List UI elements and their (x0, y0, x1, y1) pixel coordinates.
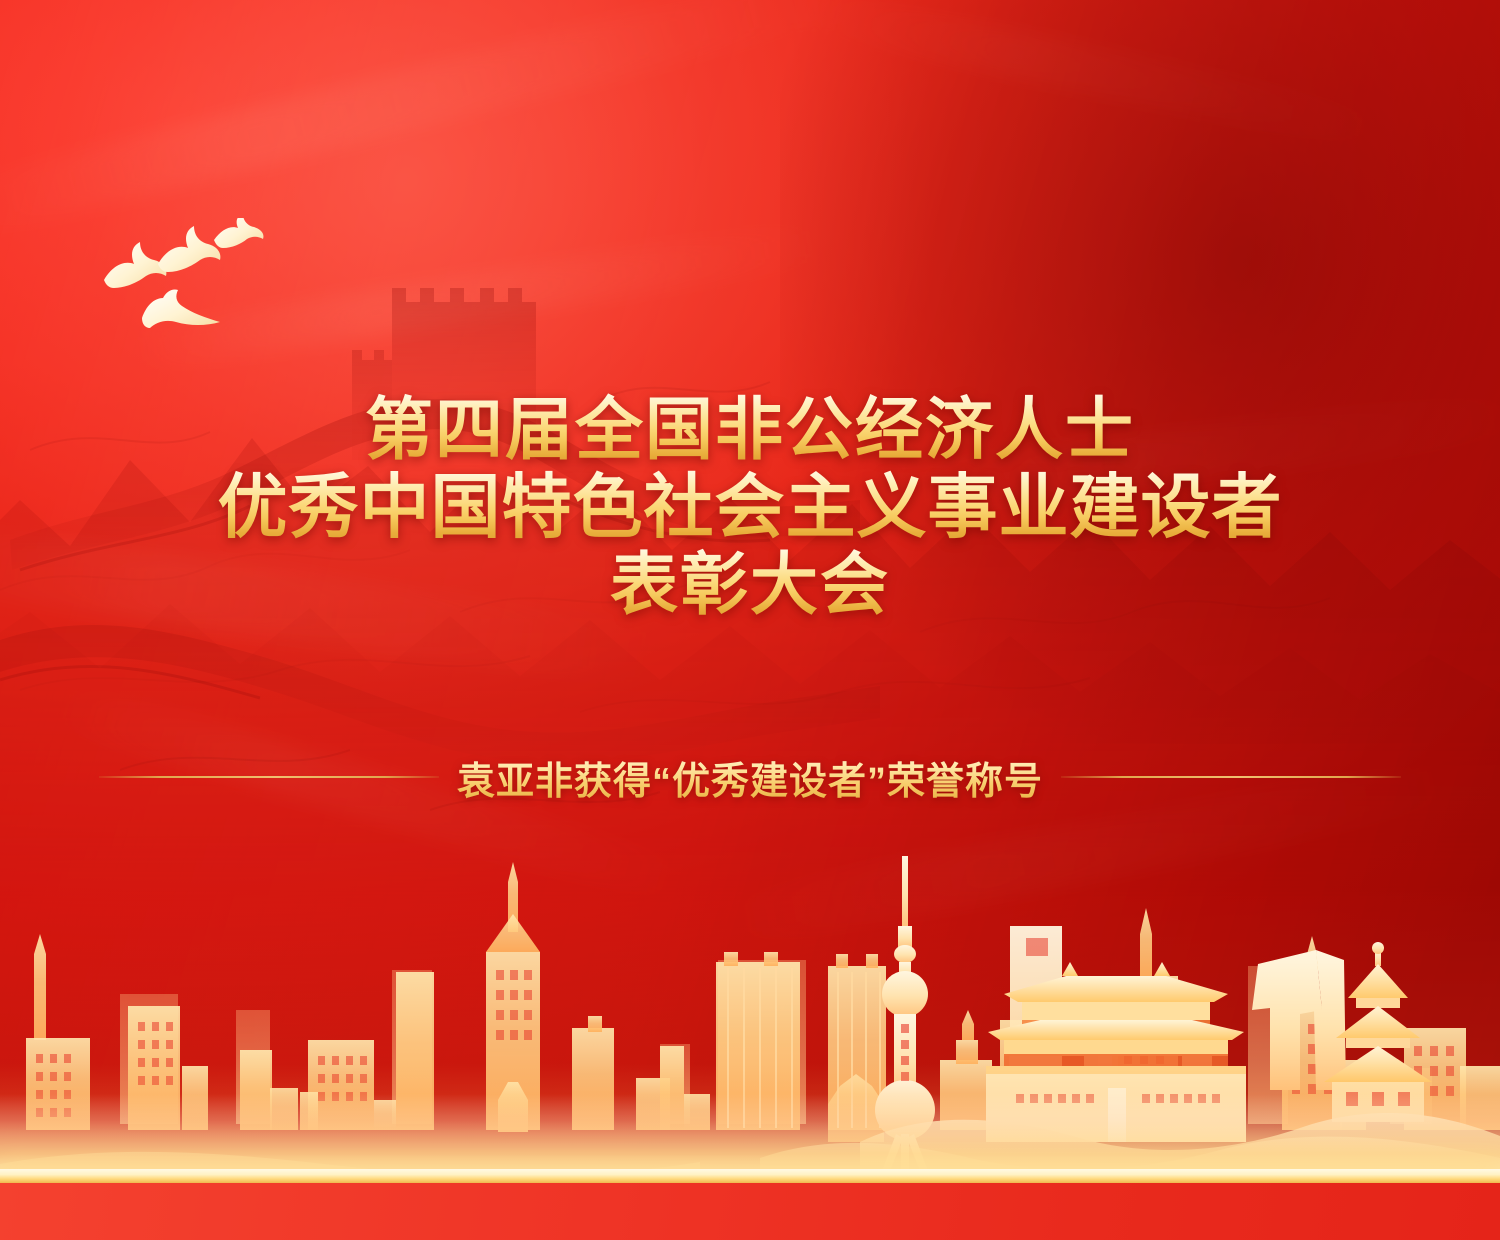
dove-icon (214, 218, 263, 248)
main-title-block: 第四届全国非公经济人士 优秀中国特色社会主义事业建设者 表彰大会 (0, 392, 1500, 623)
gold-horizon-band (0, 1169, 1500, 1183)
city-skyline-silhouette (0, 842, 1500, 1182)
subtitle-text: 袁亚非获得“优秀建设者”荣誉称号 (457, 750, 1043, 805)
title-line-1: 第四届全国非公经济人士 (0, 392, 1500, 468)
dove-icon (142, 289, 220, 328)
peace-doves-group (96, 218, 286, 338)
poster-canvas: 第四届全国非公经济人士 优秀中国特色社会主义事业建设者 表彰大会 袁亚非获得“优… (0, 0, 1500, 1240)
title-line-2: 优秀中国特色社会主义事业建设者 (0, 468, 1500, 546)
gold-divider-left (99, 776, 439, 778)
bottom-red-bar (0, 1183, 1500, 1240)
subtitle-row: 袁亚非获得“优秀建设者”荣誉称号 (0, 746, 1500, 808)
dove-icon (158, 226, 220, 272)
dove-icon (104, 242, 166, 288)
title-line-3: 表彰大会 (0, 547, 1500, 623)
gold-divider-right (1061, 776, 1401, 778)
